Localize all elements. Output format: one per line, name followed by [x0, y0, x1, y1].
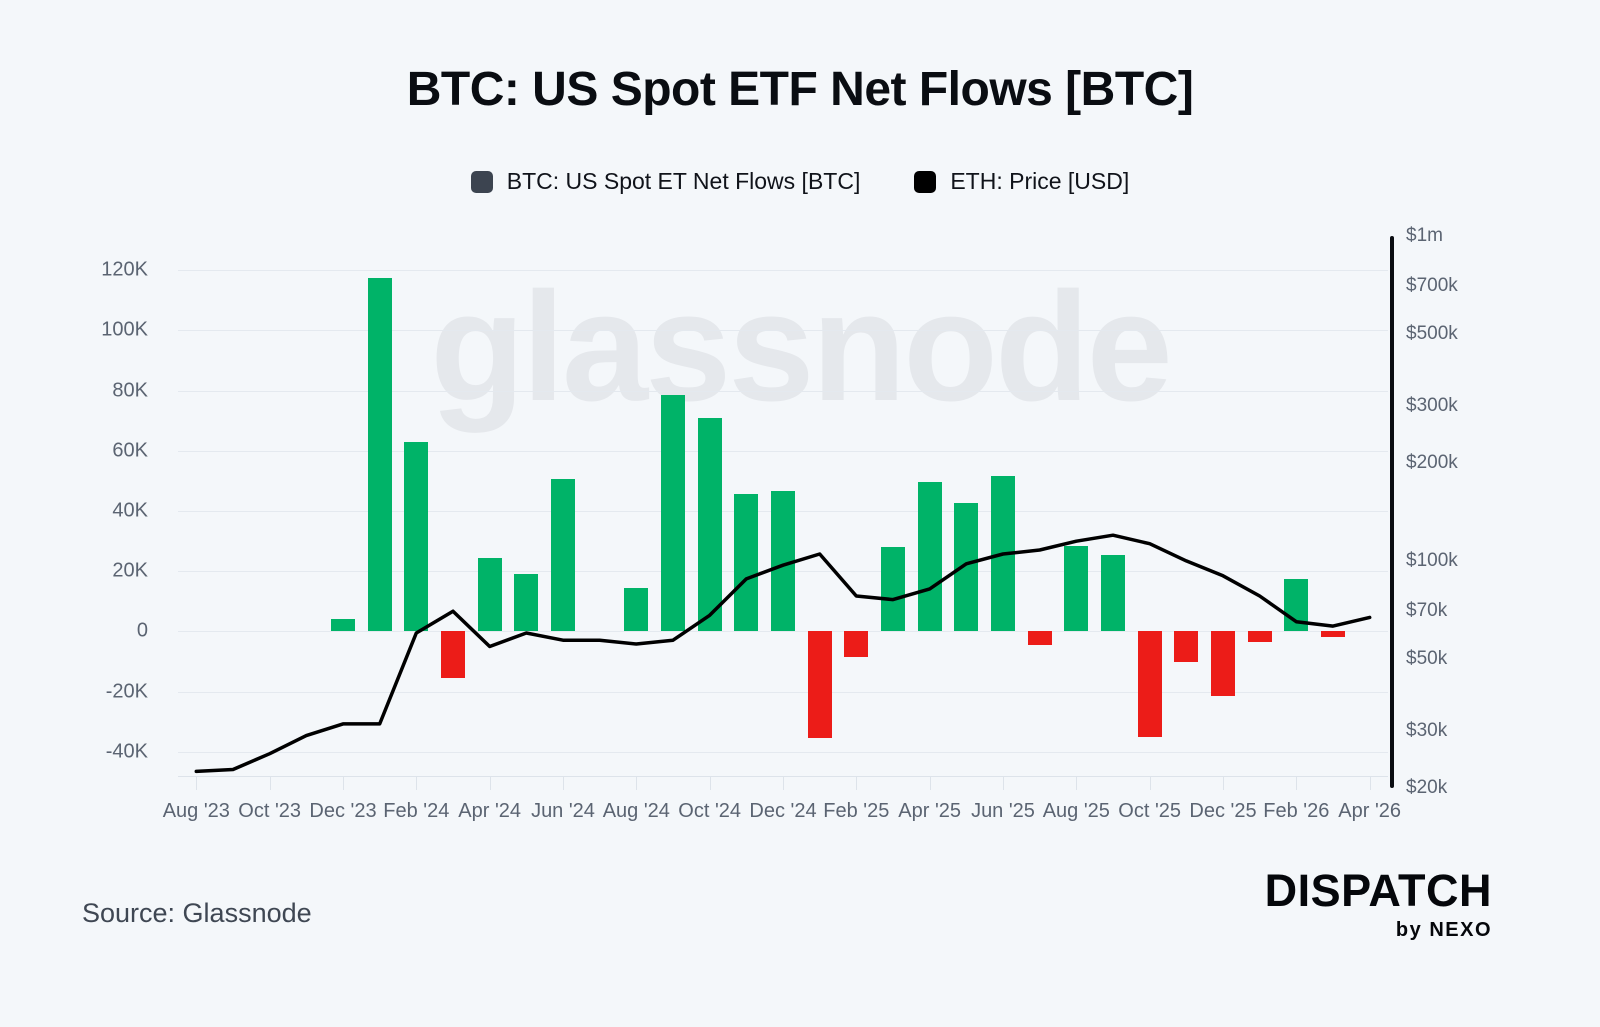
x-axis-label: Dec '23: [309, 800, 376, 823]
x-axis-tick: [710, 776, 711, 790]
x-axis-label: Oct '23: [238, 800, 301, 823]
source-label: Source: Glassnode: [82, 898, 312, 929]
x-axis: Aug '23Oct '23Dec '23Feb '24Apr '24Jun '…: [178, 776, 1388, 826]
page-title: BTC: US Spot ETF Net Flows [BTC]: [0, 62, 1600, 117]
y-axis-right-tick: $300k: [1406, 395, 1458, 417]
y-axis-left-tick: 120K: [101, 259, 148, 282]
x-axis-label: Dec '25: [1189, 800, 1256, 823]
y-axis-right-tick: $1m: [1406, 225, 1443, 247]
x-axis-tick: [416, 776, 417, 790]
x-axis-tick: [196, 776, 197, 790]
line-series: [178, 246, 1388, 776]
y-axis-right-tick: $70k: [1406, 600, 1447, 622]
brand-logo: DISPATCH by NEXO: [1265, 868, 1492, 942]
x-axis-label: Jun '25: [971, 800, 1035, 823]
y-axis-left-tick: 80K: [112, 379, 148, 402]
y-axis-left-tick: 20K: [112, 560, 148, 583]
x-axis-label: Oct '24: [678, 800, 741, 823]
y-axis-left-tick: 100K: [101, 319, 148, 342]
x-axis-label: Feb '24: [383, 800, 449, 823]
y-axis-left-tick: 0: [137, 620, 148, 643]
x-axis-label: Dec '24: [749, 800, 816, 823]
chart-card: BTC: US Spot ETF Net Flows [BTC] BTC: US…: [0, 0, 1600, 1027]
x-axis-label: Aug '23: [163, 800, 230, 823]
x-axis-tick: [343, 776, 344, 790]
x-axis-tick: [1223, 776, 1224, 790]
legend-item-bars[interactable]: BTC: US Spot ET Net Flows [BTC]: [471, 168, 861, 195]
y-axis-left-tick: 40K: [112, 500, 148, 523]
y-axis-left-tick: -40K: [106, 740, 148, 763]
x-axis-tick: [270, 776, 271, 790]
legend-swatch-bars: [471, 171, 493, 193]
x-axis-label: Apr '26: [1338, 800, 1401, 823]
y-axis-left: 120K100K80K60K40K20K0-20K-40K: [0, 246, 170, 776]
x-axis-tick: [1370, 776, 1371, 790]
y-axis-right-tick: $50k: [1406, 648, 1447, 670]
x-axis-tick: [636, 776, 637, 790]
x-axis-tick: [1150, 776, 1151, 790]
x-axis-label: Feb '25: [823, 800, 889, 823]
legend-swatch-line: [914, 171, 936, 193]
x-axis-label: Jun '24: [531, 800, 595, 823]
x-axis-label: Feb '26: [1263, 800, 1329, 823]
x-axis-label: Aug '24: [603, 800, 670, 823]
x-axis-label: Apr '25: [898, 800, 961, 823]
x-axis-tick: [563, 776, 564, 790]
x-axis-tick: [490, 776, 491, 790]
x-axis-tick: [1076, 776, 1077, 790]
chart-legend: BTC: US Spot ET Net Flows [BTC] ETH: Pri…: [0, 168, 1600, 195]
y-axis-right-line: [1390, 236, 1394, 788]
brand-tagline: by NEXO: [1265, 919, 1492, 942]
y-axis-right-tick: $500k: [1406, 323, 1458, 345]
y-axis-right: $1m$700k$500k$300k$200k$100k$70k$50k$30k…: [1390, 236, 1590, 788]
legend-item-line[interactable]: ETH: Price [USD]: [914, 168, 1129, 195]
y-axis-right-tick: $700k: [1406, 275, 1458, 297]
x-axis-label: Apr '24: [458, 800, 521, 823]
y-axis-right-tick: $100k: [1406, 550, 1458, 572]
x-axis-tick: [1296, 776, 1297, 790]
legend-label-line: ETH: Price [USD]: [950, 168, 1129, 195]
legend-label-bars: BTC: US Spot ET Net Flows [BTC]: [507, 168, 861, 195]
x-axis-tick: [930, 776, 931, 790]
x-axis-tick: [856, 776, 857, 790]
plot-area: [178, 246, 1388, 776]
x-axis-tick: [1003, 776, 1004, 790]
brand-name: DISPATCH: [1265, 868, 1492, 913]
y-axis-right-tick: $20k: [1406, 777, 1447, 799]
x-axis-label: Oct '25: [1118, 800, 1181, 823]
y-axis-left-tick: -20K: [106, 680, 148, 703]
y-axis-left-tick: 60K: [112, 439, 148, 462]
price-line: [196, 535, 1369, 771]
x-axis-label: Aug '25: [1043, 800, 1110, 823]
x-axis-tick: [783, 776, 784, 790]
y-axis-right-tick: $30k: [1406, 720, 1447, 742]
y-axis-right-tick: $200k: [1406, 452, 1458, 474]
